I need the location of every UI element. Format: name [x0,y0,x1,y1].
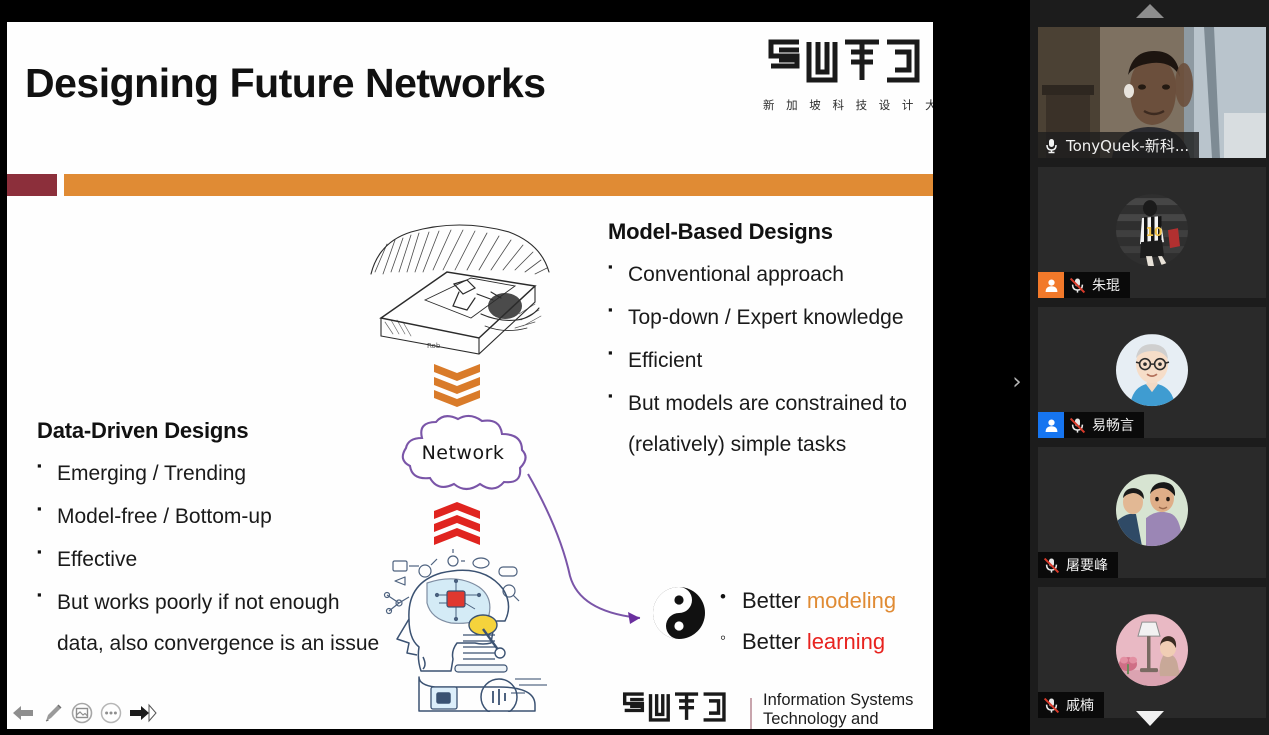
bullet-item: ▪ Model-free / Bottom-up [37,497,387,538]
avatar [1116,334,1188,406]
participant-namebar: 易畅言 [1038,412,1144,438]
participant-badge-icon [1038,272,1064,298]
participant-name: 屠要峰 [1064,555,1118,575]
orange-down-chevrons-icon [431,362,483,407]
footer-divider [750,698,752,729]
bullet-text: Conventional approach [628,255,844,296]
bullet-marker-icon: ▪ [37,540,57,581]
sutd-wordmark-icon [611,690,739,724]
avatar [1116,474,1188,546]
slide-title: Designing Future Networks [25,60,546,107]
avatar-footballer-image: 10 [1116,194,1188,266]
bullet-marker-icon: ▪ [37,454,57,495]
annotate-pen-button[interactable] [42,702,64,724]
shared-screen-area: Designing Future Networks [0,0,1030,735]
bullet-marker-icon: ▪ [37,497,57,538]
participant-tile-zhukun[interactable]: 10 [1038,167,1266,298]
sutd-footer-logo: SINGAPORE UNIVERSITY OF TECHNOLOGY AND D… [611,690,933,729]
participant-namebar: 朱琨 [1038,272,1130,298]
accent-bar-maroon [7,174,57,196]
bullet-dot-hollow-icon: ◦ [720,625,742,658]
participant-tile-yichangyan[interactable]: 易畅言 [1038,307,1266,438]
screen-root: Designing Future Networks [0,0,1269,735]
drafting-table-sketch-illustration: Rob [359,222,559,362]
participant-tile-tuyaofeng[interactable]: 屠要峰 [1038,447,1266,578]
mic-muted-icon [1064,272,1090,298]
accent-bar-orange [64,174,933,196]
bullet-item: ▪ But models are constrained to (relativ… [608,384,933,466]
sutd-header-logo: 新 加 坡 科 技 设 计 大 学 [763,36,927,113]
triangle-down-icon [1136,711,1164,726]
bullet-item: ▪ Effective [37,540,387,581]
bullet-marker-icon: ▪ [608,298,628,339]
conclusion-text: Better learning [742,625,885,658]
participant-tile-qinan[interactable]: 戚楠 [1038,587,1266,718]
bullet-dot-filled-icon: • [720,584,742,617]
column-model-based-designs: Model-Based Designs ▪ Conventional appro… [608,219,933,468]
participant-namebar: 屠要峰 [1038,552,1118,578]
bullet-item: ▪ But works poorly if not enough data, a… [37,583,387,665]
bullet-text: Emerging / Trending [57,454,246,495]
footer-pillar-line2: Technology and Design [763,710,933,729]
slide-toolbar [11,702,157,724]
avatar-cartoon-man-image [1116,334,1188,406]
next-slide-chevron-button[interactable]: › [1006,366,1028,398]
scroll-down-button[interactable] [1030,707,1269,729]
avatar [1116,614,1188,686]
conclusion-lead: Better [742,629,807,654]
bullet-text: Top-down / Expert knowledge [628,298,904,339]
bullet-item: ▪ Top-down / Expert knowledge [608,298,933,339]
bullet-item: ▪ Emerging / Trending [37,454,387,495]
participant-name: 朱琨 [1090,275,1130,295]
conclusion-bullets: • Better modeling ◦ Better learning [720,584,933,666]
bullet-text: Effective [57,540,137,581]
presentation-slide: Designing Future Networks [7,22,933,729]
right-arrow-icon [129,702,157,724]
conclusion-item-learning: ◦ Better learning [720,625,933,658]
bullet-item: ▪ Efficient [608,341,933,382]
bullet-text: Model-free / Bottom-up [57,497,272,538]
bullet-text: But works poorly if not enough data, als… [57,583,387,665]
slide-thumbnail-button[interactable] [71,702,93,724]
pencil-icon [42,702,64,724]
avatar-pink-room-image [1116,614,1188,686]
scroll-up-button[interactable] [1030,0,1269,22]
bullet-marker-icon: ▪ [608,341,628,382]
svg-text:Rob: Rob [427,342,441,350]
conclusion-lead: Better [742,588,807,613]
footer-logo-left: SINGAPORE UNIVERSITY OF TECHNOLOGY AND D… [611,690,739,729]
slide-icon [71,702,93,724]
footer-pillar-line1: Information Systems [763,691,933,710]
triangle-up-icon [1136,4,1164,18]
mic-active-icon [1038,132,1064,158]
participant-filmstrip-panel: TonyQuek-新科... [1030,0,1269,735]
mic-muted-icon [1038,552,1064,578]
participant-tile-tonyquek[interactable]: TonyQuek-新科... [1038,27,1266,158]
svg-text:10: 10 [1146,225,1163,239]
footer-pillar-name: Information Systems Technology and Desig… [763,691,933,729]
participant-name: TonyQuek-新科... [1064,135,1199,156]
column-heading: Data-Driven Designs [37,418,387,444]
column-data-driven-designs: Data-Driven Designs ▪ Emerging / Trendin… [37,418,387,667]
bullet-text: But models are constrained to (relativel… [628,384,933,466]
conclusion-emphasis: learning [807,629,885,654]
participant-name: 易畅言 [1090,415,1144,435]
yin-yang-icon [651,585,707,641]
avatar-two-people-image [1116,474,1188,546]
previous-slide-button[interactable] [11,702,35,724]
avatar: 10 [1116,194,1188,266]
bullet-marker-icon: ▪ [608,255,628,296]
more-options-button[interactable] [100,702,122,724]
conclusion-emphasis: modeling [807,588,896,613]
sutd-header-chinese: 新 加 坡 科 技 设 计 大 学 [763,97,927,113]
ai-head-circuit-illustration [379,547,569,712]
bullet-marker-icon: ▪ [608,384,628,466]
participant-badge-icon [1038,412,1064,438]
left-arrow-icon [11,702,35,724]
conclusion-item-modeling: • Better modeling [720,584,933,617]
mic-muted-icon [1064,412,1090,438]
bullet-item: ▪ Conventional approach [608,255,933,296]
bullet-marker-icon: ▪ [37,583,57,665]
sutd-wordmark-icon [763,36,927,94]
next-slide-button[interactable] [129,702,157,724]
network-cloud-label: Network [392,442,534,464]
bullet-text: Efficient [628,341,702,382]
participant-namebar: TonyQuek-新科... [1038,132,1199,158]
conclusion-text: Better modeling [742,584,896,617]
column-heading: Model-Based Designs [608,219,933,245]
ellipsis-icon [100,702,122,724]
